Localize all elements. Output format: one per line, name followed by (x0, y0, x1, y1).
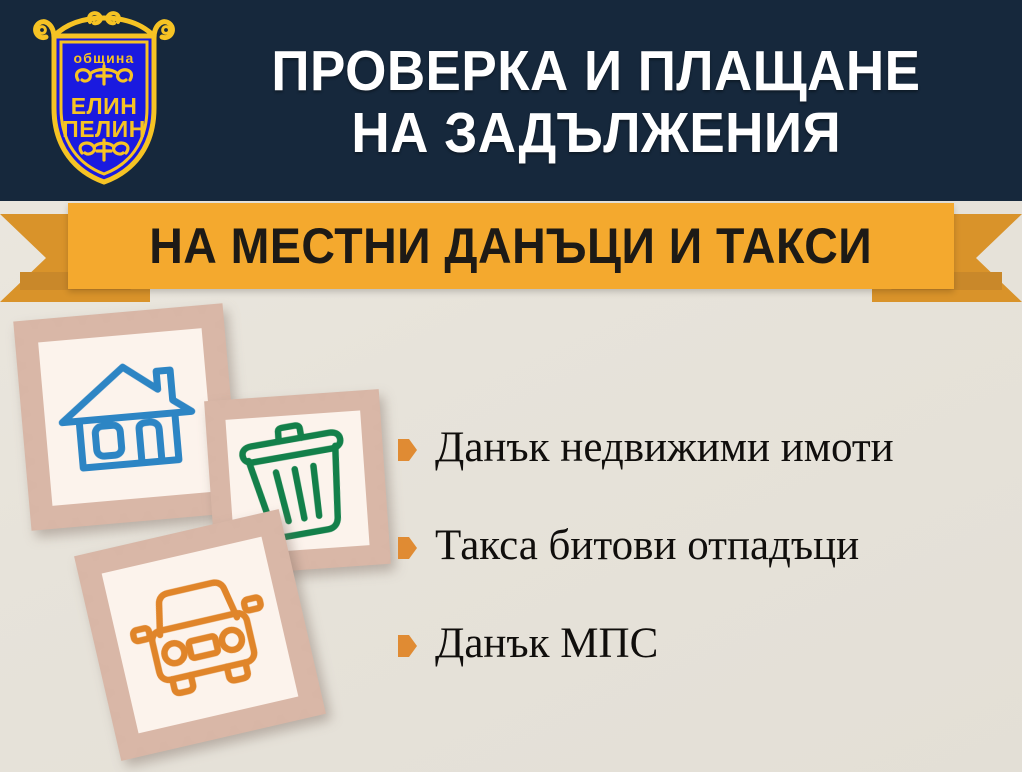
bullet-arrow-icon (398, 537, 417, 559)
poster-canvas: община ЕЛИН ПЕЛИН (0, 0, 1022, 772)
svg-text:ПЕЛИН: ПЕЛИН (62, 116, 146, 142)
coat-of-arms-shield-icon: община ЕЛИН ПЕЛИН (28, 8, 180, 188)
svg-text:община: община (73, 50, 134, 66)
ribbon-subtitle: НА МЕСТНИ ДАНЪЦИ И ТАКСИ (150, 221, 873, 271)
list-item-label: Данък МПС (435, 621, 658, 667)
stamp-card-group (0, 300, 420, 772)
list-item[interactable]: Такса битови отпадъци (398, 523, 1008, 569)
header-bar: община ЕЛИН ПЕЛИН (0, 0, 1022, 201)
list-item[interactable]: Данък недвижими имоти (398, 425, 1008, 471)
bullet-arrow-icon (398, 635, 417, 657)
title-line-2: НА ЗАДЪЛЖЕНИЯ (351, 102, 841, 164)
tax-type-list: Данък недвижими имоти Такса битови отпад… (398, 425, 1008, 719)
bullet-arrow-icon (398, 439, 417, 461)
title-line-1: ПРОВЕРКА И ПЛАЩАНЕ (271, 40, 920, 102)
page-title: ПРОВЕРКА И ПЛАЩАНЕ НА ЗАДЪЛЖЕНИЯ (190, 14, 1002, 189)
list-item-label: Такса битови отпадъци (435, 523, 859, 569)
list-item[interactable]: Данък МПС (398, 621, 1008, 667)
ribbon-main-band: НА МЕСТНИ ДАНЪЦИ И ТАКСИ (68, 203, 954, 289)
ribbon-banner: НА МЕСТНИ ДАНЪЦИ И ТАКСИ (0, 196, 1022, 308)
list-item-label: Данък недвижими имоти (435, 425, 894, 471)
